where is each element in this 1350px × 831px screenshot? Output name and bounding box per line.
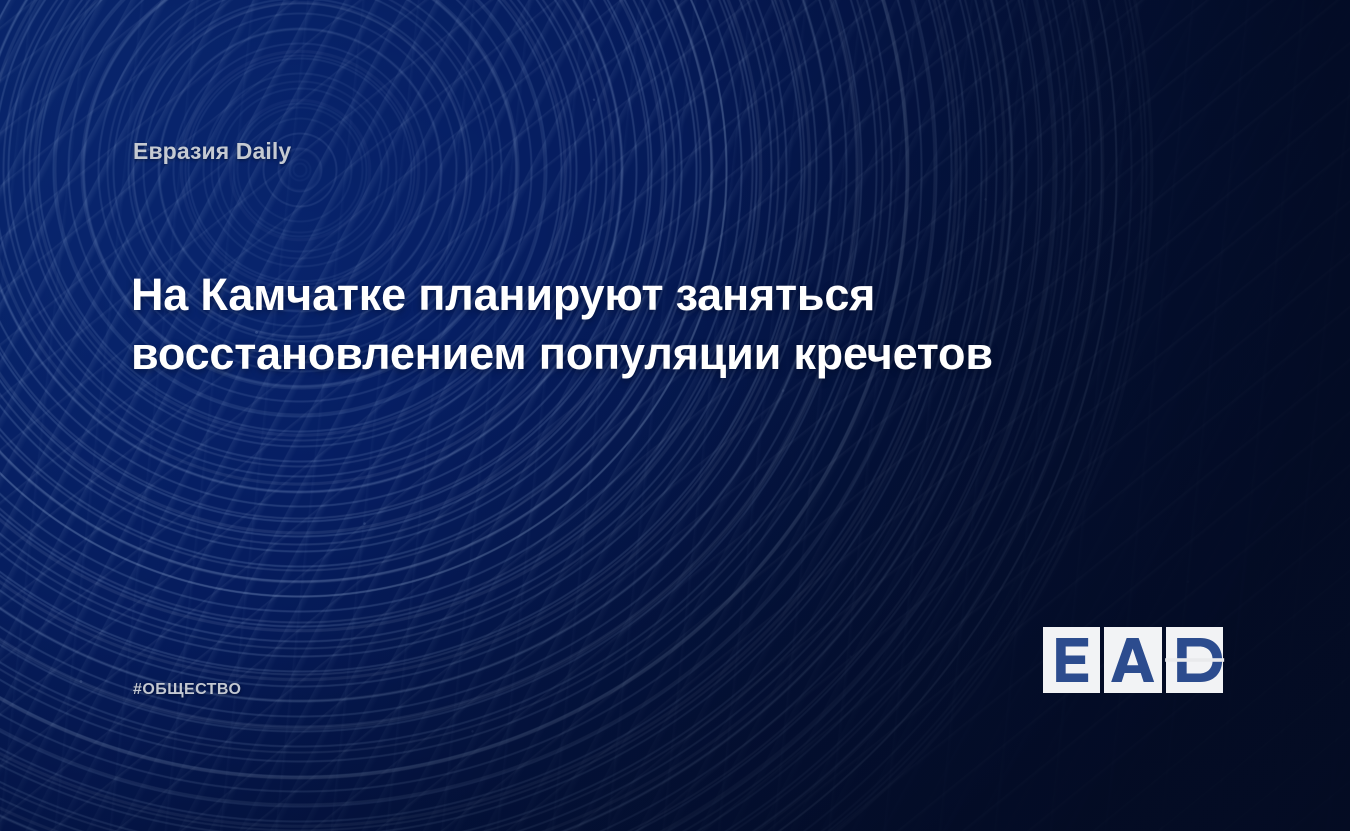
logo-letter-d-icon — [1166, 627, 1223, 693]
logo-tile-a — [1104, 627, 1161, 693]
category-tag[interactable]: #ОБЩЕСТВО — [133, 681, 241, 699]
ead-logo[interactable] — [1043, 627, 1223, 693]
logo-tile-d — [1166, 627, 1223, 693]
news-share-card: Евразия Daily На Камчатке планируют заня… — [0, 0, 1350, 831]
card-content: Евразия Daily На Камчатке планируют заня… — [0, 0, 1350, 831]
logo-letter-e-icon — [1043, 627, 1100, 693]
logo-tile-e — [1043, 627, 1100, 693]
headline: На Камчатке планируют заняться восстанов… — [131, 265, 1221, 384]
logo-letter-a-icon — [1104, 627, 1161, 693]
site-name: Евразия Daily — [133, 138, 291, 166]
